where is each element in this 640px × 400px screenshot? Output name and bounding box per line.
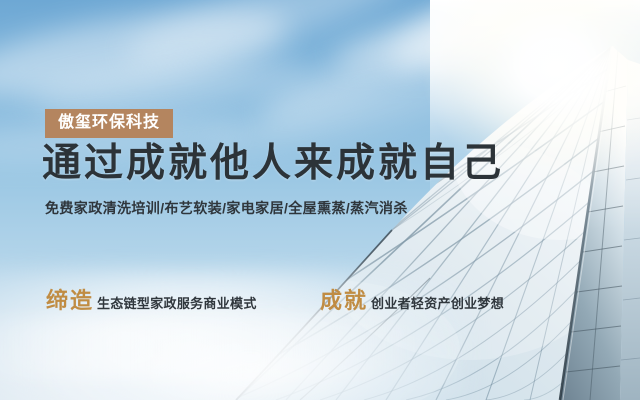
subheadline: 免费家政清洗培训/布艺软装/家电家居/全屋熏蒸/蒸汽消杀 [45,198,408,218]
banner-copy: 傲玺环保科技 通过成就他人来成就自己 免费家政清洗培训/布艺软装/家电家居/全屋… [0,0,640,400]
tagline-item: 成就创业者轻资产创业梦想 [320,283,504,315]
tagline-row: 缔造生态链型家政服务商业模式 成就创业者轻资产创业梦想 [0,283,640,313]
tagline-text: 生态链型家政服务商业模式 [97,296,257,311]
tagline-text: 创业者轻资产创业梦想 [371,296,504,311]
tagline-keyword: 成就 [320,288,368,313]
tagline-item: 缔造生态链型家政服务商业模式 [46,283,257,315]
promo-banner: 傲玺环保科技 通过成就他人来成就自己 免费家政清洗培训/布艺软装/家电家居/全屋… [0,0,640,400]
tagline-keyword: 缔造 [46,288,94,313]
brand-badge: 傲玺环保科技 [45,109,173,138]
headline: 通过成就他人来成就自己 [42,142,504,186]
